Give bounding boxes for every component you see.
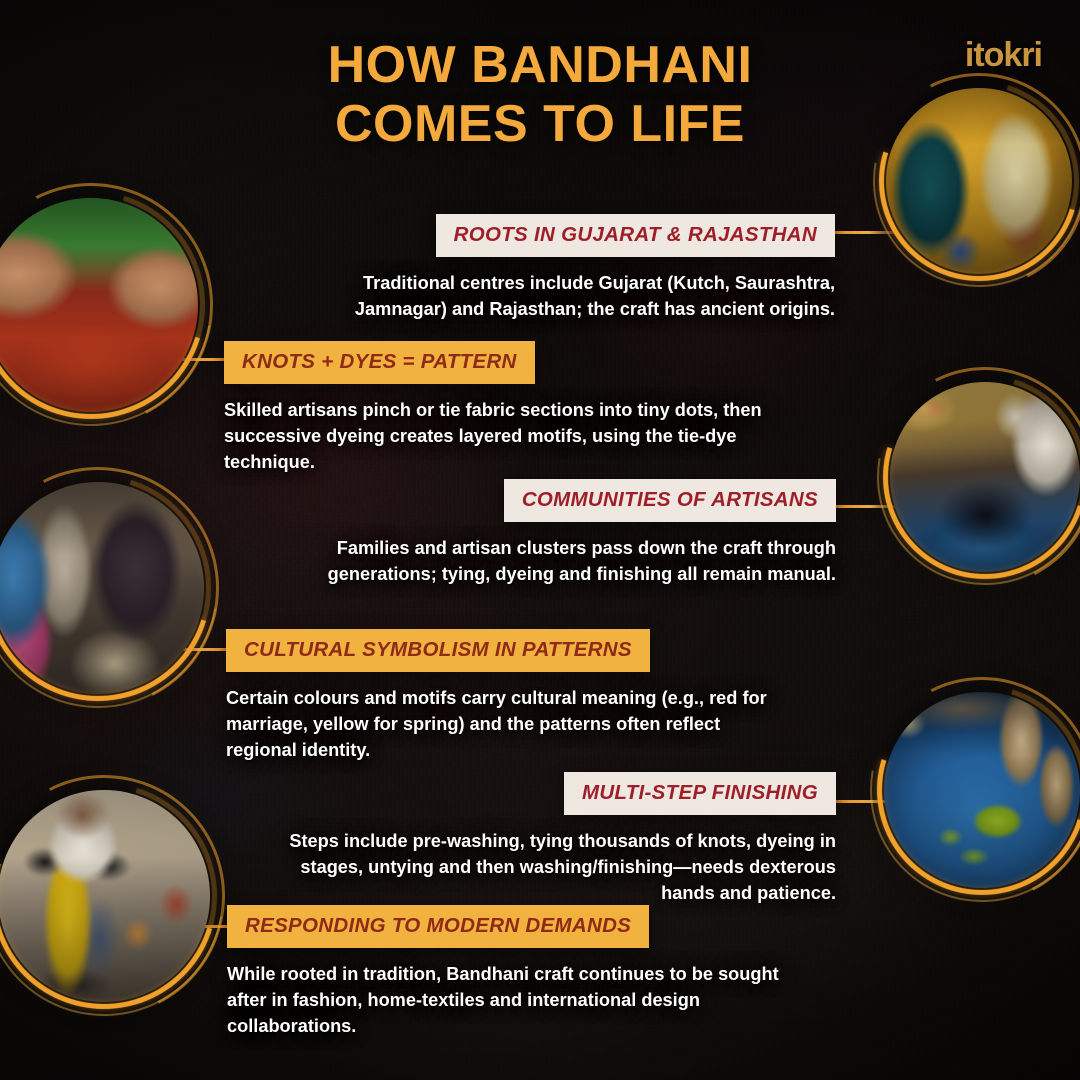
- title-line-2: COMES TO LIFE: [0, 95, 1080, 154]
- section-3-body: Families and artisan clusters pass down …: [268, 536, 836, 588]
- page-title: HOW BANDHANI COMES TO LIFE: [0, 36, 1080, 154]
- section-knots-dyes-pattern: KNOTS + DYES = PATTERN Skilled artisans …: [224, 341, 784, 476]
- brand-logo[interactable]: itokri: [965, 38, 1042, 72]
- section-cultural-symbolism-in-patterns: CULTURAL SYMBOLISM IN PATTERNS Certain c…: [226, 629, 786, 764]
- section-1-label[interactable]: ROOTS IN GUJARAT & RAJASTHAN: [436, 214, 835, 257]
- section-multi-step-finishing: MULTI-STEP FINISHING Steps include pre-w…: [270, 772, 836, 907]
- section-6-label[interactable]: RESPONDING TO MODERN DEMANDS: [227, 905, 649, 948]
- photo-blue-dye-bath: [884, 692, 1080, 888]
- photo-lifting-yellow-fabric: [0, 790, 210, 1002]
- photo-women-artisans-seated: [0, 482, 204, 694]
- infographic-poster: HOW BANDHANI COMES TO LIFE itokri: [0, 0, 1080, 1080]
- section-2-label[interactable]: KNOTS + DYES = PATTERN: [224, 341, 535, 384]
- section-4-body: Certain colours and motifs carry cultura…: [226, 686, 786, 764]
- section-1-body: Traditional centres include Gujarat (Kut…: [270, 271, 835, 323]
- title-line-1: HOW BANDHANI: [0, 36, 1080, 95]
- connector-line-3: [836, 505, 898, 508]
- section-6-body: While rooted in tradition, Bandhani craf…: [227, 962, 787, 1040]
- section-3-label[interactable]: COMMUNITIES OF ARTISANS: [504, 479, 836, 522]
- section-2-body: Skilled artisans pinch or tie fabric sec…: [224, 398, 784, 476]
- photo-hands-tying-red-fabric: [0, 198, 198, 412]
- section-5-label[interactable]: MULTI-STEP FINISHING: [564, 772, 836, 815]
- photo-dyer-blue-vat: [890, 382, 1080, 572]
- section-roots-in-gujarat-rajasthan: ROOTS IN GUJARAT & RAJASTHAN Traditional…: [270, 214, 835, 323]
- section-5-body: Steps include pre-washing, tying thousan…: [270, 829, 836, 907]
- section-communities-of-artisans: COMMUNITIES OF ARTISANS Families and art…: [268, 479, 836, 588]
- section-responding-to-modern-demands: RESPONDING TO MODERN DEMANDS While roote…: [227, 905, 787, 1040]
- section-4-label[interactable]: CULTURAL SYMBOLISM IN PATTERNS: [226, 629, 650, 672]
